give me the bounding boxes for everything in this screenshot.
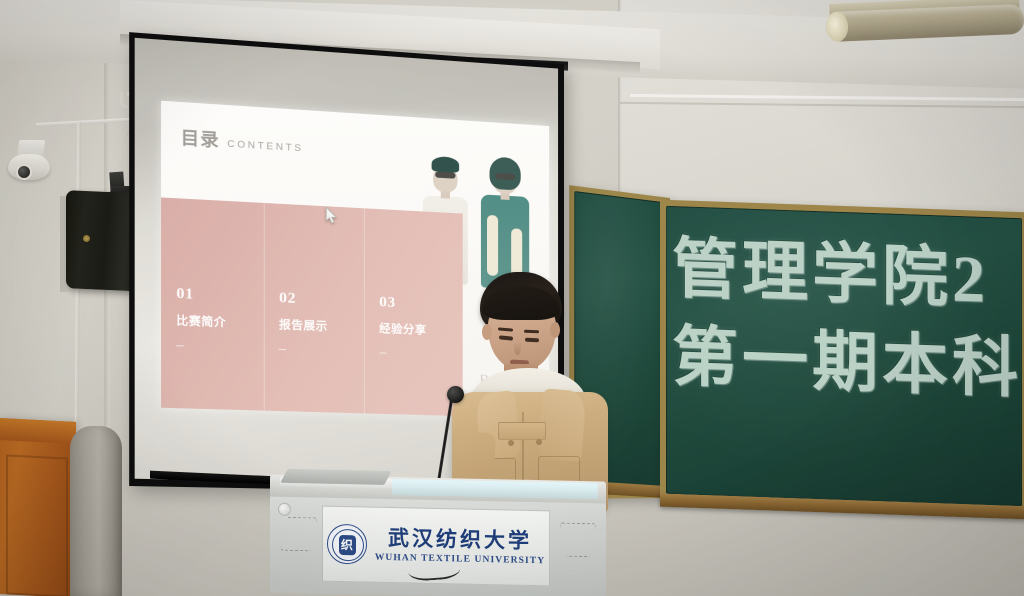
chalkboard-right [660,200,1024,513]
presenter-ear-right [550,322,560,338]
figure-female-sunglasses-icon [495,173,515,180]
speaker-screw [83,235,90,242]
classroom-photo: 管理学院2 第一期本科 目录 CONTENTS [0,0,1024,596]
slide-title-chinese: 目录 [181,123,220,152]
presenter-coat-flap [498,422,546,440]
contents-item-02[interactable]: 02 报告展示 [264,203,365,413]
university-seal-glyph: 织 [328,525,366,564]
wall-column [70,426,122,596]
presenter [448,272,612,512]
university-name-chinese: 武汉纺织大学 [388,527,532,553]
camera-lens-icon [16,164,32,180]
presenter-coat-button-1 [508,440,514,446]
chalkboard-right-surface [666,206,1022,506]
lectern-monitor-glow [392,479,598,499]
contents-item-01-dash [176,345,184,346]
university-seal-logo: 织 [327,524,367,565]
lectern-control-panel[interactable] [280,469,391,485]
slide-title-english: CONTENTS [227,138,303,154]
contents-item-01-label: 比赛简介 [176,312,264,332]
contents-item-01-number: 01 [176,286,264,305]
university-name-block: 武汉纺织大学 WUHAN TEXTILE UNIVERSITY [375,527,545,567]
presenter-ear-left [482,324,492,340]
contents-item-01[interactable]: 01 比赛简介 [161,197,264,410]
lectern-knob[interactable] [278,503,291,516]
wooden-cabinet-panel [6,454,68,596]
microphone-head [447,386,464,403]
figure-male-hair [432,156,460,173]
presenter-eye-right [525,338,539,343]
ceiling-light-fixture [825,0,1024,48]
contents-item-03-dash [379,352,386,353]
presenter-nose [514,342,521,355]
contents-item-02-number: 02 [279,291,365,310]
wooden-cabinet-top [0,418,76,444]
slide-contents-panel: 01 比赛简介 02 报告展示 03 经验分享 [161,197,463,416]
surveillance-camera [6,140,52,188]
slide-title: 目录 CONTENTS [181,123,304,157]
contents-item-02-dash [279,349,286,350]
contents-item-02-label: 报告展示 [279,316,365,336]
figure-female-scarf [487,215,498,276]
university-name-english: WUHAN TEXTILE UNIVERSITY [375,553,545,567]
conduit-hook [120,92,128,108]
presenter-eyebrow-right [524,330,539,334]
presenter-coat-button-2 [536,439,542,445]
figure-male-sunglasses-icon [435,171,455,178]
